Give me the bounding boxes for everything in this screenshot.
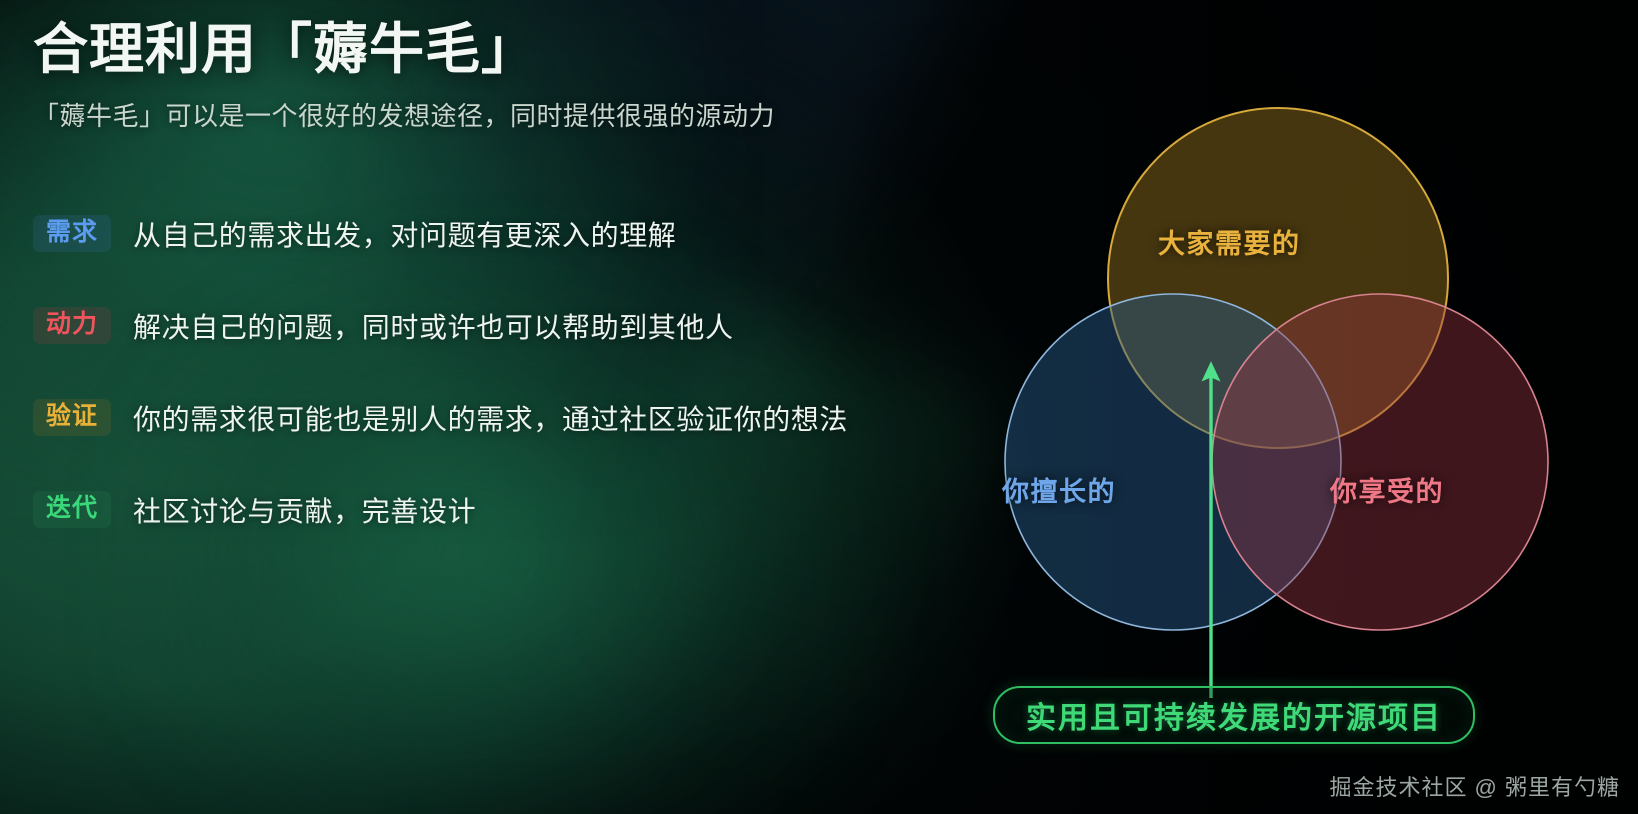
callout-box: 实用且可持续发展的开源项目 [993,686,1475,744]
venn-svg [930,70,1630,710]
venn-label-right: 你享受的 [1330,470,1444,509]
venn-label-top: 大家需要的 [1158,222,1301,261]
slide-title: 合理利用「薅牛毛」 [33,18,963,82]
point-text-motivation: 解决自己的问题，同时或许也可以帮助到其他人 [133,306,734,346]
slide-subtitle: 「薅牛毛」可以是一个很好的发想途径，同时提供很强的源动力 [33,96,963,133]
venn-label-left: 你擅长的 [1002,470,1116,509]
badge-requirement: 需求 [33,215,111,252]
slide-root: 合理利用「薅牛毛」 「薅牛毛」可以是一个很好的发想途径，同时提供很强的源动力 需… [0,0,1638,814]
point-row-requirement: 需求 从自己的需求出发，对问题有更深入的理解 [33,211,963,257]
badge-iteration: 迭代 [33,491,111,528]
point-text-validation: 你的需求很可能也是别人的需求，通过社区验证你的想法 [133,398,848,438]
left-content-column: 合理利用「薅牛毛」 「薅牛毛」可以是一个很好的发想途径，同时提供很强的源动力 需… [33,18,963,533]
point-text-requirement: 从自己的需求出发，对问题有更深入的理解 [133,214,676,254]
venn-diagram: 大家需要的 你擅长的 你享受的 [930,70,1630,710]
callout-text: 实用且可持续发展的开源项目 [1026,693,1442,737]
point-list: 需求 从自己的需求出发，对问题有更深入的理解 动力 解决自己的问题，同时或许也可… [33,211,963,533]
watermark: 掘金技术社区 @ 粥里有勺糖 [1329,770,1620,802]
badge-validation: 验证 [33,399,111,436]
point-row-iteration: 迭代 社区讨论与贡献，完善设计 [33,487,963,533]
point-text-iteration: 社区讨论与贡献，完善设计 [133,490,476,530]
badge-motivation: 动力 [33,307,111,344]
venn-circle-right [1212,294,1548,630]
point-row-validation: 验证 你的需求很可能也是别人的需求，通过社区验证你的想法 [33,395,963,441]
point-row-motivation: 动力 解决自己的问题，同时或许也可以帮助到其他人 [33,303,963,349]
